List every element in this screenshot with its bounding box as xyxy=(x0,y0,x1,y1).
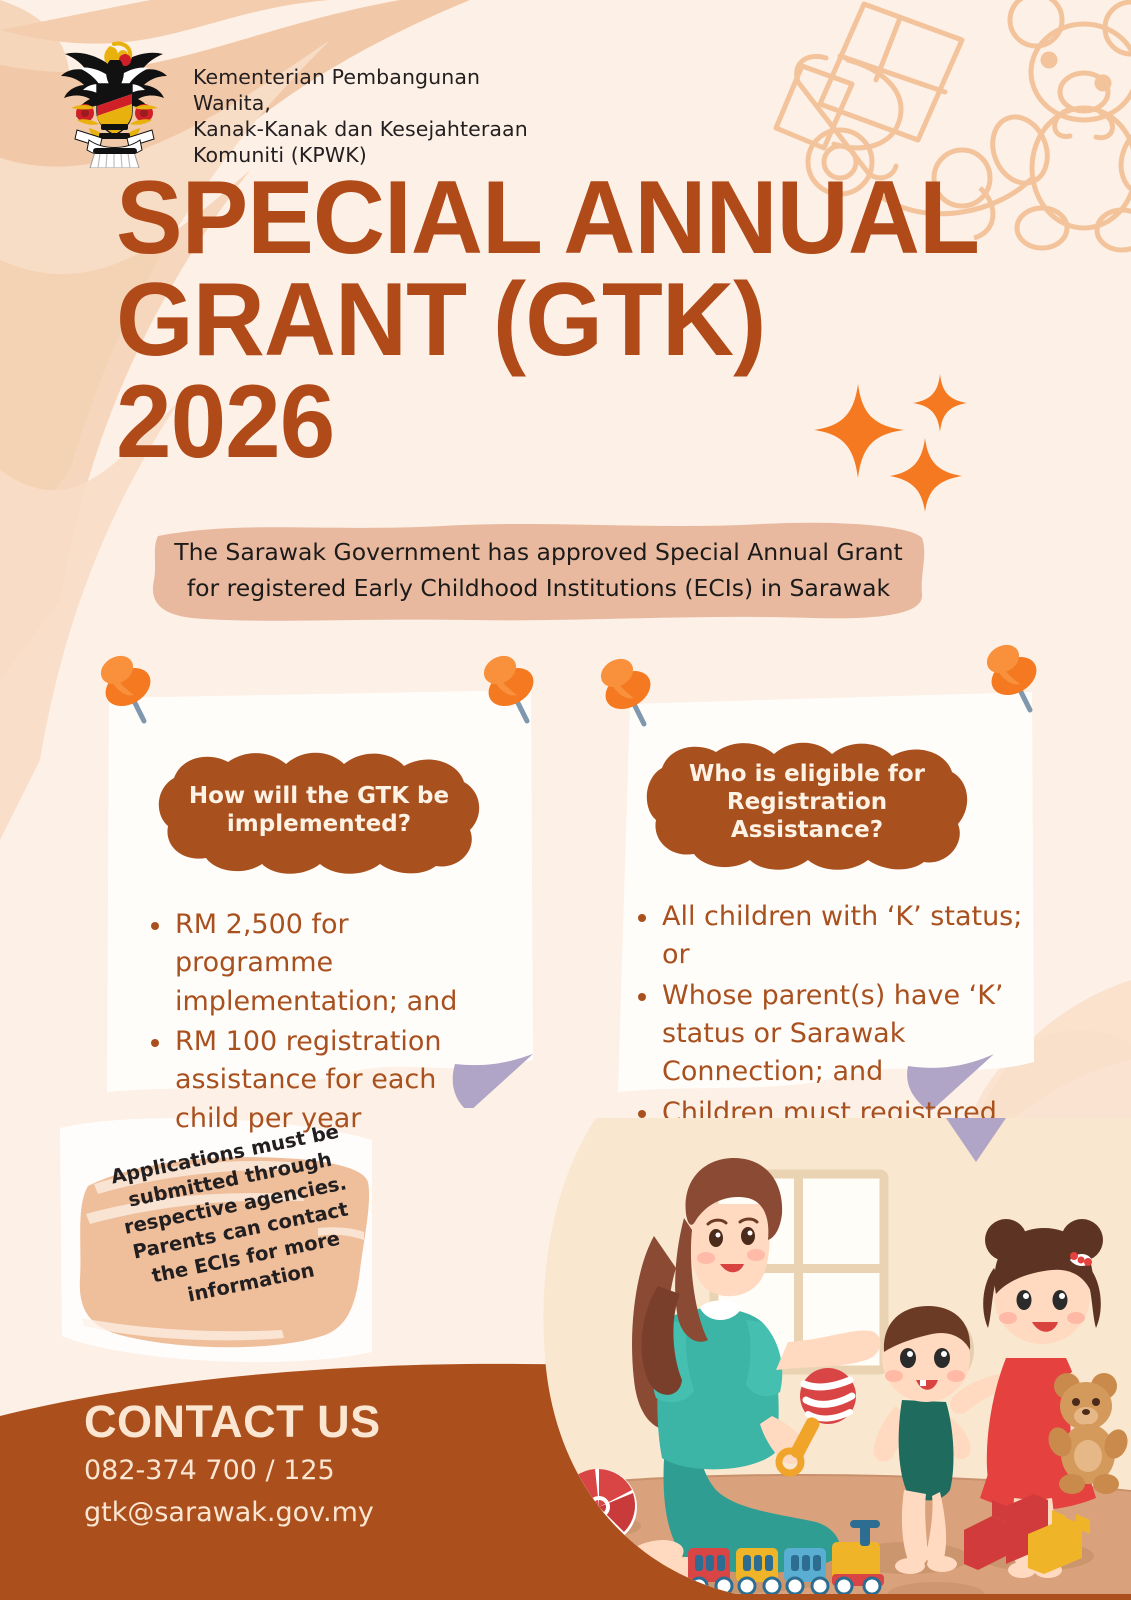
contact-heading: CONTACT US xyxy=(84,1396,381,1448)
application-note: Applications must be submitted through r… xyxy=(72,1128,372,1358)
list-item: All children with ‘K’ status; or xyxy=(630,898,1024,975)
contact-section: CONTACT US 082-374 700 / 125 gtk@sarawak… xyxy=(84,1396,381,1531)
banner-line-2: for registered Early Childhood Instituti… xyxy=(187,573,890,604)
ministry-name: Kementerian Pembangunan Wanita, Kanak-Ka… xyxy=(193,64,553,168)
ministry-line-1: Kementerian Pembangunan Wanita, xyxy=(193,64,553,116)
card-implementation: How will the GTK be implemented? RM 2,50… xyxy=(103,688,535,1108)
card-heading-blob: How will the GTK be implemented? xyxy=(152,744,486,876)
card-heading-text: How will the GTK be implemented? xyxy=(152,744,486,876)
card-heading-text: Who is eligible for Registration Assista… xyxy=(640,732,974,872)
banner-line-1: The Sarawak Government has approved Spec… xyxy=(174,537,902,568)
subtitle-banner: The Sarawak Government has approved Spec… xyxy=(152,514,925,627)
poster-canvas: Kementerian Pembangunan Wanita, Kanak-Ka… xyxy=(0,0,1131,1600)
pushpin-icon xyxy=(986,642,1048,714)
list-item: Whose parent(s) have ‘K’ status or Saraw… xyxy=(630,977,1024,1092)
sarawak-coat-of-arms-icon xyxy=(55,38,173,168)
ministry-line-2: Kanak-Kanak dan Kesejahteraan xyxy=(193,116,553,142)
card-eligibility: Who is eligible for Registration Assista… xyxy=(608,680,1040,1110)
title-line-1: SPECIAL ANNUAL xyxy=(116,168,980,270)
card-bullet-list: RM 2,500 for programme implementation; a… xyxy=(143,906,507,1138)
banner-text: The Sarawak Government has approved Spec… xyxy=(152,514,925,627)
pushpin-icon xyxy=(483,653,545,725)
beach-ball xyxy=(560,1469,637,1545)
pushpin-icon xyxy=(100,653,162,725)
classroom-illustration xyxy=(536,1118,1131,1600)
pushpin-icon xyxy=(600,656,662,728)
contact-phone[interactable]: 082-374 700 / 125 xyxy=(84,1453,381,1490)
list-item: RM 2,500 for programme implementation; a… xyxy=(143,906,507,1021)
contact-email[interactable]: gtk@sarawak.gov.my xyxy=(84,1495,381,1532)
header: Kementerian Pembangunan Wanita, Kanak-Ka… xyxy=(55,38,553,168)
sparkle-icon xyxy=(812,362,972,512)
title-line-2: GRANT (GTK) xyxy=(116,270,980,372)
card-heading-blob: Who is eligible for Registration Assista… xyxy=(640,732,974,872)
